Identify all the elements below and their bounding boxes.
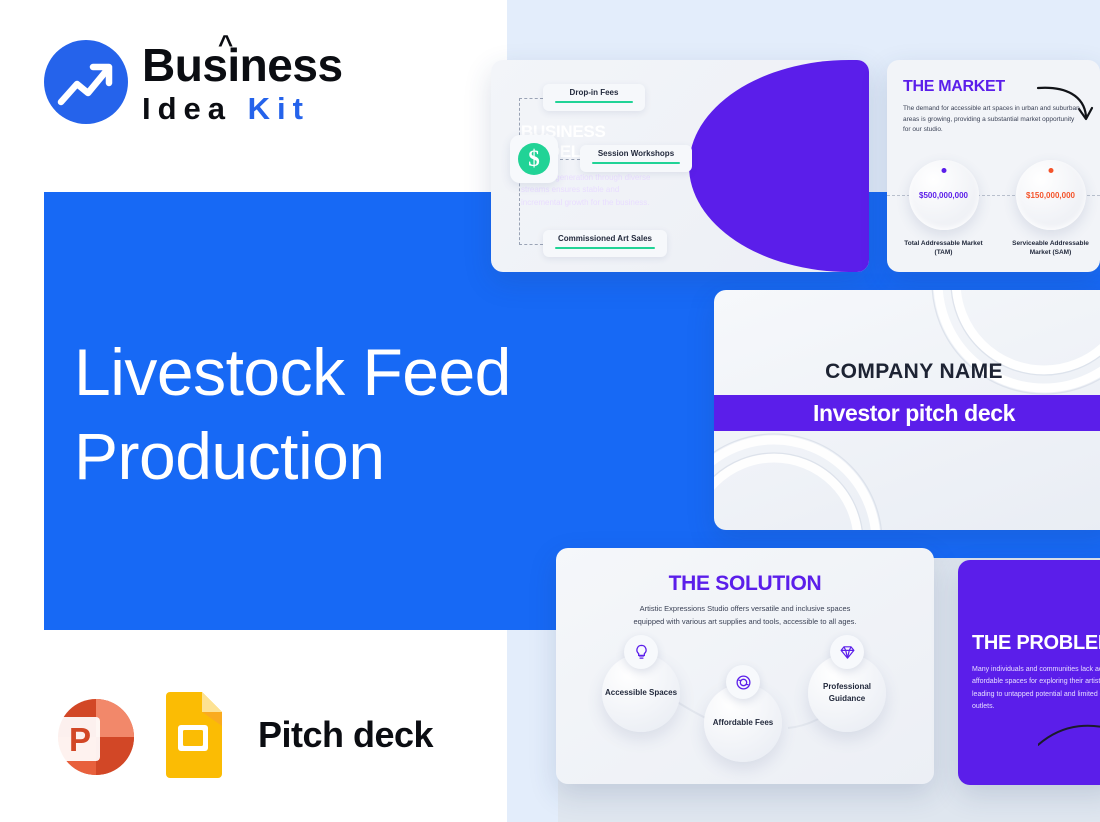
logo-word-business: Business	[142, 39, 343, 91]
coin-circle-icon	[726, 665, 760, 699]
title-slide-subtitle: Investor pitch deck	[813, 400, 1015, 427]
poster-canvas: Business ^ Idea Kit Livestock Feed Produ…	[0, 0, 1100, 822]
solution-pillar-label: Accessible Spaces	[605, 687, 677, 699]
logo-line-business: Business ^	[142, 42, 343, 88]
business-model-icon-wrap: $	[510, 135, 558, 183]
slide-card-problem[interactable]: THE PROBLEM Many individuals and communi…	[958, 560, 1100, 785]
problem-description: Many individuals and communities lack ac…	[972, 664, 1100, 713]
slide-card-business-model[interactable]: BUSINESS MODEL Revenue generation throug…	[491, 60, 869, 272]
page-title: Livestock Feed Production	[74, 330, 594, 499]
logo-word-idea: Idea	[142, 91, 248, 126]
logo-word-kit: Kit	[248, 91, 310, 126]
format-badges: P Pitch deck	[48, 690, 433, 780]
market-metric-caption: Total Addressable Market (TAM)	[895, 239, 992, 257]
market-metric-dot	[941, 168, 946, 173]
business-model-item[interactable]: Session Workshops	[580, 145, 692, 172]
connector-line-mid-h	[560, 159, 580, 160]
trend-up-chart-icon	[44, 40, 128, 124]
market-description: The demand for accessible art spaces in …	[903, 104, 1083, 136]
powerpoint-icon: P	[48, 690, 138, 780]
problem-curve-decoration	[1038, 715, 1100, 755]
business-model-item-underline	[555, 101, 633, 103]
title-slide-company: COMPANY NAME	[714, 360, 1100, 384]
solution-pillar-label: Professional Guidance	[808, 681, 886, 704]
business-model-purple-panel	[689, 60, 869, 272]
business-model-item-label: Session Workshops	[592, 149, 680, 158]
market-metric-circle: $500,000,000	[909, 160, 979, 230]
market-heading: THE MARKET	[903, 78, 1005, 96]
diamond-icon	[830, 635, 864, 669]
slide-card-solution[interactable]: THE SOLUTION Artistic Expressions Studio…	[556, 548, 934, 784]
market-metric: $500,000,000 Total Addressable Market (T…	[895, 160, 992, 257]
connector-line-down-h	[519, 244, 543, 245]
brand-logo: Business ^ Idea Kit	[44, 40, 343, 124]
logo-circumflex: ^	[218, 31, 233, 57]
market-metric-dot	[1048, 168, 1053, 173]
business-model-item[interactable]: Drop-in Fees	[543, 84, 645, 111]
business-model-item[interactable]: Commissioned Art Sales	[543, 230, 667, 257]
market-metric: $150,000,000 Serviceable Addressable Mar…	[1002, 160, 1099, 257]
market-metric-value: $500,000,000	[919, 191, 968, 200]
market-metrics: $500,000,000 Total Addressable Market (T…	[895, 160, 1100, 257]
format-badge-label: Pitch deck	[258, 714, 433, 756]
market-metric-caption: Serviceable Addressable Market (SAM)	[1002, 239, 1099, 257]
business-model-item-underline	[592, 162, 680, 164]
connector-line-up-h	[519, 98, 543, 99]
business-model-item-label: Commissioned Art Sales	[555, 234, 655, 243]
title-slide-band: Investor pitch deck	[714, 395, 1100, 431]
problem-heading: THE PROBLEM	[972, 632, 1100, 655]
solution-pillar-label: Affordable Fees	[713, 717, 773, 729]
market-metric-circle: $150,000,000	[1016, 160, 1086, 230]
google-slides-icon	[160, 692, 226, 778]
business-model-item-label: Drop-in Fees	[555, 88, 633, 97]
lightbulb-icon	[624, 635, 658, 669]
slide-card-title[interactable]: COMPANY NAME Investor pitch deck	[714, 290, 1100, 530]
slide-card-market[interactable]: THE MARKET The demand for accessible art…	[887, 60, 1100, 272]
market-metric-value: $150,000,000	[1026, 191, 1075, 200]
svg-text:P: P	[69, 721, 91, 758]
logo-line-ideakit: Idea Kit	[142, 93, 343, 124]
business-model-item-underline	[555, 247, 655, 249]
dollar-icon: $	[518, 143, 550, 175]
